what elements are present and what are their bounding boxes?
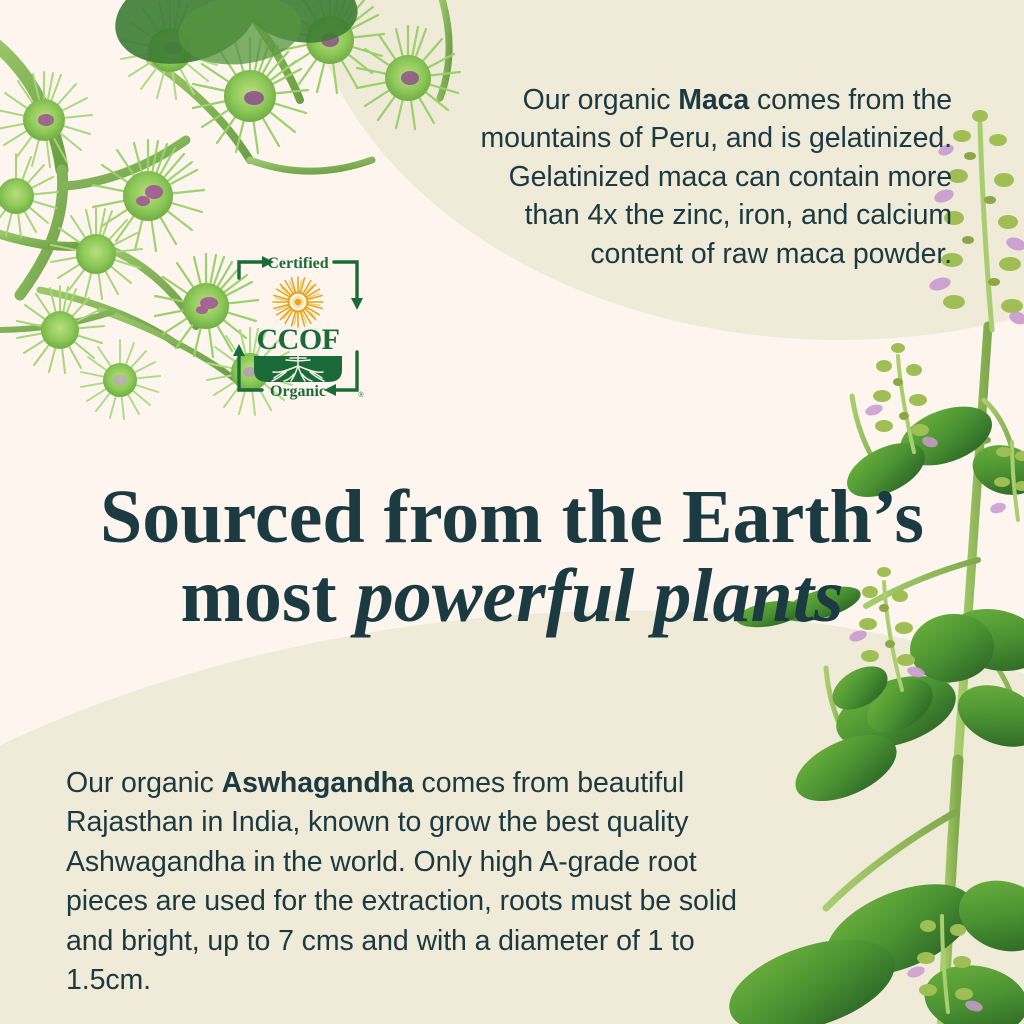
burdock-burr <box>0 154 58 237</box>
seal-organic-label: Organic <box>270 383 326 400</box>
ashwagandha-paragraph-lead: Our organic <box>66 767 222 799</box>
headline-line-2-plain: most <box>181 554 356 638</box>
burdock-burr <box>93 140 204 251</box>
headline-line-2-italic: powerful plants <box>356 554 844 638</box>
ccof-seal-svg: Certified <box>228 248 368 404</box>
ashwagandha-ingredient-name: Aswhagandha <box>222 767 414 799</box>
promo-graphic: Certified <box>0 0 1024 1024</box>
burdock-burr <box>0 72 92 167</box>
burdock-burr <box>81 340 160 419</box>
headline-line-2: most powerful plants <box>0 557 1024 636</box>
ashwagandha-paragraph-rest: comes from beautiful Rajasthan in India,… <box>66 767 737 997</box>
maca-paragraph-lead: Our organic <box>523 84 679 116</box>
burdock-burr <box>121 0 220 99</box>
seal-certified-label: Certified <box>267 255 328 272</box>
seal-acronym: CCOF <box>257 323 340 356</box>
burdock-burr <box>17 286 104 373</box>
root-soil-icon <box>254 356 342 382</box>
ccof-organic-seal: Certified <box>228 248 368 404</box>
seal-registered-mark: ® <box>358 391 364 399</box>
burdock-burr <box>193 38 308 153</box>
headline-line-1: Sourced from the Earth’s <box>100 475 924 559</box>
sunflower-icon <box>273 277 323 327</box>
ashwagandha-paragraph: Our organic Aswhagandha comes from beaut… <box>66 764 756 1001</box>
maca-ingredient-name: Maca <box>678 84 749 116</box>
page-headline: Sourced from the Earth’s most powerful p… <box>0 478 1024 636</box>
maca-paragraph: Our organic Maca comes from the mountain… <box>470 81 952 274</box>
burdock-burr <box>51 208 142 299</box>
